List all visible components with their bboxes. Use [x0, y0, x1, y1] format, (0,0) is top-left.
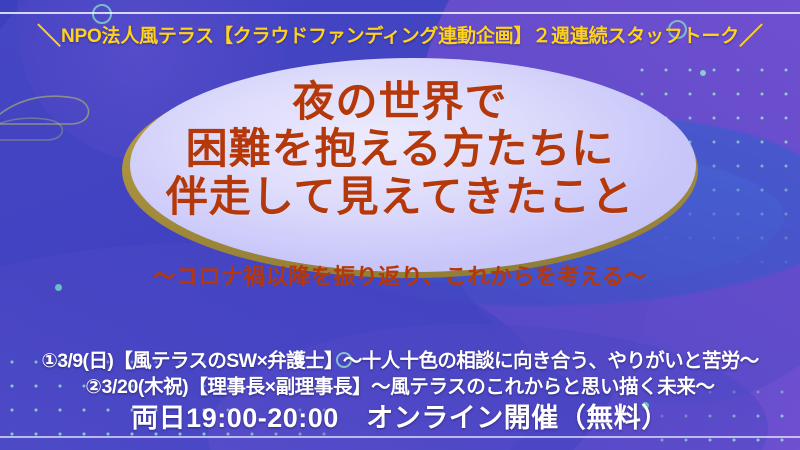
title-line-2: 困難を抱える方たちに [0, 125, 800, 172]
session-one-label: ①3/9(日)【風テラスのSW×弁護士】〜十人十色の相談に向き合う、やりがいと苦… [0, 348, 800, 374]
accent-dot-top [700, 70, 706, 76]
main-title: 夜の世界で 困難を抱える方たちに 伴走して見えてきたこと [0, 78, 800, 220]
slash-left-icon: ＼ [37, 16, 61, 51]
horizontal-rule-bottom [0, 436, 800, 438]
header-title: NPO法人風テラス【クラウドファンディング連動企画】２週連続スタッフトーク [61, 21, 739, 48]
title-line-3: 伴走して見えてきたこと [0, 173, 800, 220]
schedule-info: ①3/9(日)【風テラスのSW×弁護士】〜十人十色の相談に向き合う、やりがいと苦… [0, 348, 800, 436]
slash-right-icon: ／ [739, 16, 763, 51]
event-poster: ＼NPO法人風テラス【クラウドファンディング連動企画】２週連続スタッフトーク／ … [0, 0, 800, 450]
horizontal-rule-top [0, 12, 800, 14]
header-banner: ＼NPO法人風テラス【クラウドファンディング連動企画】２週連続スタッフトーク／ [0, 16, 800, 51]
subtitle: 〜コロナ禍以降を振り返り、これからを考える〜 [0, 259, 800, 291]
title-line-1: 夜の世界で [0, 78, 800, 125]
session-two-label: ②3/20(木祝)【理事長×副理事長】〜風テラスのこれからと思い描く未来〜 [0, 374, 800, 400]
time-and-format-label: 両日19:00-20:00 オンライン開催（無料） [0, 401, 800, 436]
